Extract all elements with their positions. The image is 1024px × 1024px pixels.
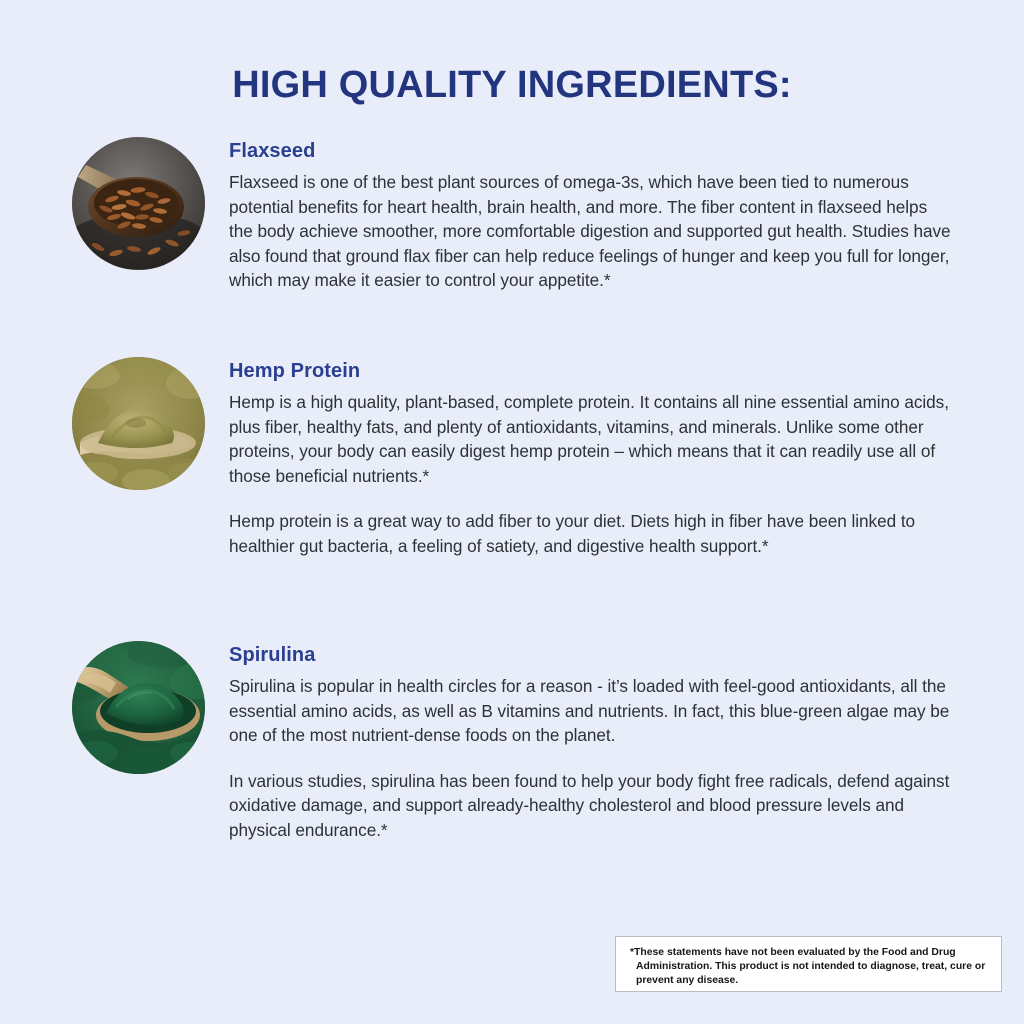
spirulina-text-block: Spirulina Spirulina is popular in health… <box>229 642 952 843</box>
ingredients-page: HIGH QUALITY INGREDIENTS: <box>0 0 1024 1024</box>
page-title: HIGH QUALITY INGREDIENTS: <box>0 61 1024 109</box>
ingredient-paragraph: Flaxseed is one of the best plant source… <box>229 170 952 293</box>
ingredient-name-flaxseed: Flaxseed <box>229 138 952 164</box>
flaxseed-text-block: Flaxseed Flaxseed is one of the best pla… <box>229 138 952 293</box>
ingredient-paragraph: Spirulina is popular in health circles f… <box>229 674 952 748</box>
spirulina-photo <box>72 641 205 774</box>
ingredient-paragraph: In various studies, spirulina has been f… <box>229 769 952 843</box>
hemp-protein-photo <box>72 357 205 490</box>
fda-disclaimer-box: *These statements have not been evaluate… <box>615 936 1002 992</box>
ingredient-name-spirulina: Spirulina <box>229 642 952 668</box>
hemp-protein-text-block: Hemp Protein Hemp is a high quality, pla… <box>229 358 952 559</box>
flaxseed-photo <box>72 137 205 270</box>
ingredient-paragraph: Hemp protein is a great way to add fiber… <box>229 509 952 558</box>
ingredient-name-hemp-protein: Hemp Protein <box>229 358 952 384</box>
ingredient-paragraph: Hemp is a high quality, plant-based, com… <box>229 390 952 488</box>
fda-disclaimer-text: *These statements have not been evaluate… <box>630 946 987 989</box>
